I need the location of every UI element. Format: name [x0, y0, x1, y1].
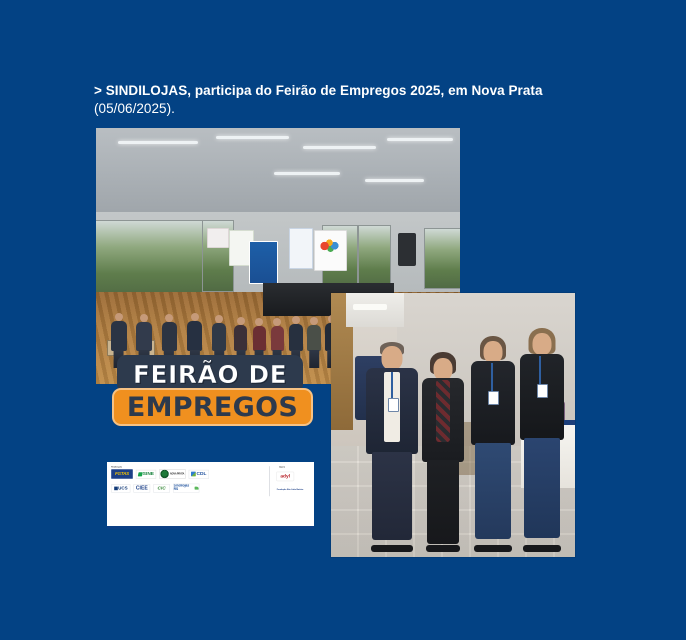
- hall-attendee: [162, 322, 177, 351]
- hall-window: [96, 220, 203, 297]
- hall-attendee: [289, 324, 303, 351]
- hall-attendee: [253, 326, 266, 351]
- adyl-logo: adyl: [276, 472, 294, 482]
- ceiling-light: [118, 141, 198, 144]
- hall-attendee: [187, 321, 202, 351]
- sine-logo: SINE: [136, 470, 156, 479]
- group-person: [519, 328, 565, 552]
- headline-main-text: > SINDILOJAS, participa do Feirão de Emp…: [94, 82, 604, 100]
- banner-line-1-text: FEIRÃO DE: [133, 360, 287, 389]
- headline-date-text: (05/06/2025).: [94, 100, 604, 118]
- ceiling-light: [216, 136, 289, 139]
- cdl-mark-icon: [191, 472, 196, 477]
- prefeitura-logo-label: NOVA PRATA: [170, 473, 184, 475]
- hall-attendee: [234, 325, 247, 351]
- ceiling-light: [353, 304, 387, 311]
- banner-line-2: EMPREGOS: [112, 388, 313, 426]
- room-ceiling: [346, 293, 405, 327]
- ceiling-light: [387, 138, 453, 141]
- sponsors-apoio-label: Apoio: [279, 466, 285, 468]
- sponsors-divider: [269, 466, 270, 496]
- ceiling-light: [365, 179, 423, 182]
- hall-attendee: [111, 321, 127, 351]
- cic-logo: CIC: [153, 484, 170, 492]
- hall-attendee: [271, 326, 284, 351]
- hall-banner-cras: [314, 230, 347, 271]
- hall-window: [424, 228, 460, 289]
- cdl-logo-label: CDL: [197, 472, 207, 477]
- photo-group-image: [331, 293, 575, 557]
- sponsors-row-2: UCS CIEE CIC Sindilojas RS: [111, 484, 199, 493]
- ucs-logo: UCS: [111, 484, 130, 492]
- fgtas-logo: FGTAS: [111, 469, 133, 479]
- sponsors-apoio-group: adyl: [276, 472, 294, 482]
- ciee-logo: CIEE: [133, 484, 150, 492]
- group-person: [365, 342, 419, 552]
- sponsors-row-1: FGTAS SINE NOVA PRATA CDL: [111, 469, 209, 479]
- hall-attendee: [307, 325, 321, 351]
- hall-banner-pcd: [289, 228, 313, 269]
- page-title: > SINDILOJAS, participa do Feirão de Emp…: [94, 82, 604, 118]
- page-background: > SINDILOJAS, participa do Feirão de Emp…: [0, 0, 686, 640]
- sindilojas-logo-label: Sindilojas RS: [174, 485, 195, 492]
- hall-attendee: [212, 323, 226, 351]
- hall-banner-fgtas: [249, 241, 278, 285]
- apoio-subtitle: Fundação São João Batista: [273, 488, 307, 491]
- sine-logo-label: SINE: [143, 472, 154, 477]
- sponsor-strip: Realização Apoio FGTAS SINE NOVA PRATA C…: [107, 462, 314, 529]
- ceiling-light: [274, 172, 340, 175]
- group-person: [470, 336, 516, 552]
- ceiling-light: [303, 146, 376, 149]
- sindilojas-logo: Sindilojas RS: [173, 484, 199, 493]
- banner-line-2-text: EMPREGOS: [127, 392, 298, 423]
- hall-loudspeaker: [398, 233, 416, 266]
- hall-attendee: [136, 322, 152, 351]
- sindilojas-mark-icon: [195, 487, 199, 490]
- ucs-mark-icon: [114, 486, 118, 490]
- brasao-icon: [161, 470, 169, 478]
- feirao-empregos-banner: FEIRÃO DE EMPREGOS: [112, 355, 313, 427]
- hall-window: [358, 225, 391, 289]
- sponsors-realizacao-label: Realização: [111, 466, 122, 468]
- hall-poster: [207, 228, 229, 248]
- ucs-logo-label: UCS: [118, 486, 128, 491]
- sine-mark-icon: [138, 472, 143, 476]
- cdl-logo: CDL: [189, 470, 209, 479]
- group-person: [421, 352, 465, 552]
- prefeitura-nova-prata-logo: NOVA PRATA: [159, 469, 185, 479]
